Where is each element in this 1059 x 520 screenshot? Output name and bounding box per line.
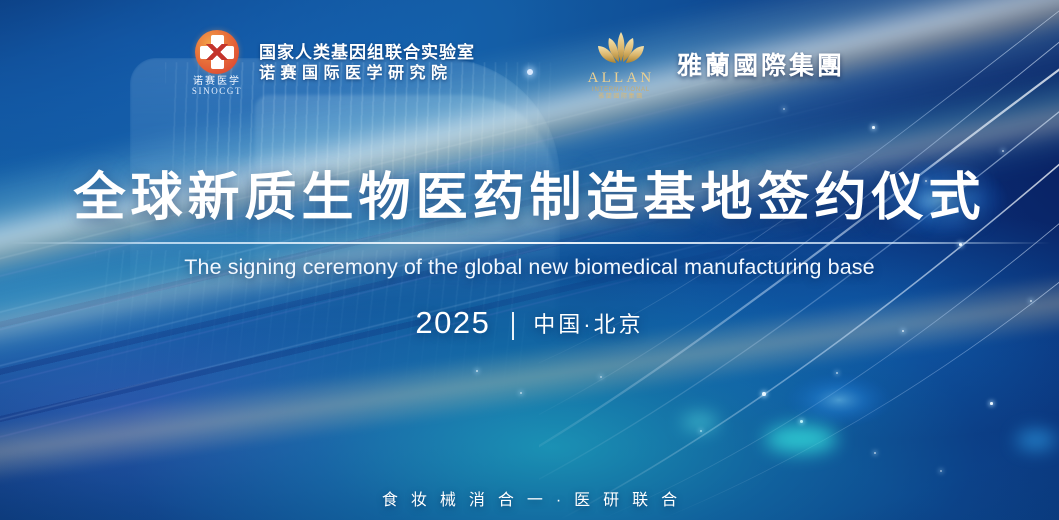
cross-dna-emblem-icon (195, 30, 239, 74)
vertical-divider (512, 312, 514, 340)
allan-wordmark: 雅蘭國際集團 (677, 50, 845, 83)
logo-bar: 诺赛医学 SINOCGT 国家人类基因组联合实验室 诺赛国际医学研究院 (0, 28, 1059, 88)
page-title: 全球新质生物医药制造基地签约仪式 (0, 170, 1059, 226)
year-location-line: 2025 中国·北京 (0, 305, 1059, 341)
background-cyan-blob (765, 425, 837, 453)
page-subtitle: The signing ceremony of the global new b… (0, 255, 1059, 280)
sinocgt-wordmark: 国家人类基因组联合实验室 诺赛国际医学研究院 (259, 42, 475, 85)
glow-dot-icon (527, 69, 533, 75)
sinocgt-mark: 诺赛医学 SINOCGT (188, 30, 246, 97)
sinocgt-line1: 国家人类基因组联合实验室 (259, 42, 475, 64)
lotus-icon (593, 30, 649, 64)
logo-allan: ALLAN INTERNATIONAL 雅蘭國際集團 雅蘭國際集團 (578, 30, 845, 102)
allan-line1: 雅蘭國際集團 (677, 50, 845, 83)
background-blue-blob (1016, 430, 1056, 450)
event-location: 中国·北京 (533, 312, 643, 337)
logo-sinocgt: 诺赛医学 SINOCGT 国家人类基因组联合实验室 诺赛国际医学研究院 (188, 30, 475, 97)
sinocgt-mark-en: SINOCGT (188, 87, 246, 97)
allan-mark-cn-sub: 雅蘭國際集團 (578, 94, 664, 102)
event-year: 2025 (415, 305, 490, 340)
allan-mark: ALLAN INTERNATIONAL 雅蘭國際集團 (578, 30, 664, 102)
title-divider (8, 242, 1051, 244)
banner-tagline: 食妆械消合一·医研联合 (0, 486, 1059, 510)
signing-ceremony-banner: 诺赛医学 SINOCGT 国家人类基因组联合实验室 诺赛国际医学研究院 (0, 0, 1059, 520)
sinocgt-line2: 诺赛国际医学研究院 (259, 64, 475, 85)
allan-mark-en: ALLAN (578, 70, 664, 87)
background-cyan-blob-2 (682, 414, 718, 430)
